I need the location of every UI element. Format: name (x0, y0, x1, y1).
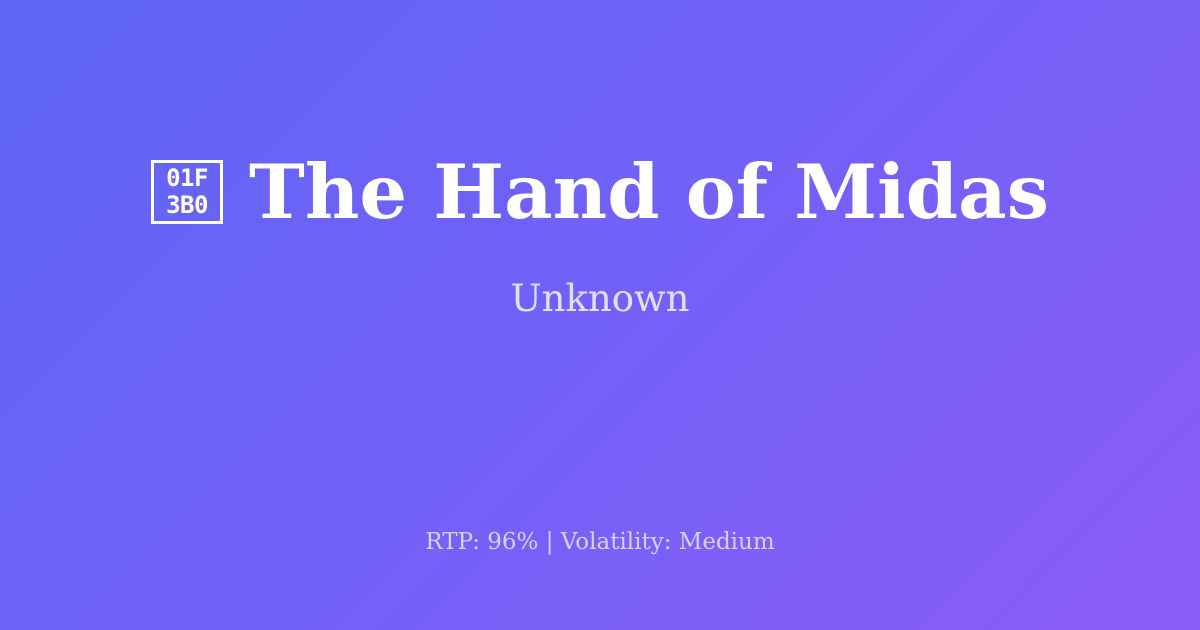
page-title: The Hand of Midas (249, 149, 1049, 235)
tofu-codepoint-row-bottom: 3B0 (166, 192, 208, 219)
hero-block: 01F 3B0 The Hand of Midas Unknown (0, 0, 1200, 470)
game-meta-text: RTP: 96% | Volatility: Medium (425, 527, 774, 557)
card-footer: RTP: 96% | Volatility: Medium (0, 527, 1200, 557)
title-row: 01F 3B0 The Hand of Midas (40, 149, 1160, 235)
card-subtitle: Unknown (510, 277, 689, 321)
slot-machine-emoji-tofu-icon: 01F 3B0 (151, 160, 223, 224)
og-share-card: 01F 3B0 The Hand of Midas Unknown RTP: 9… (0, 0, 1200, 630)
tofu-codepoint-row-top: 01F (166, 165, 208, 192)
